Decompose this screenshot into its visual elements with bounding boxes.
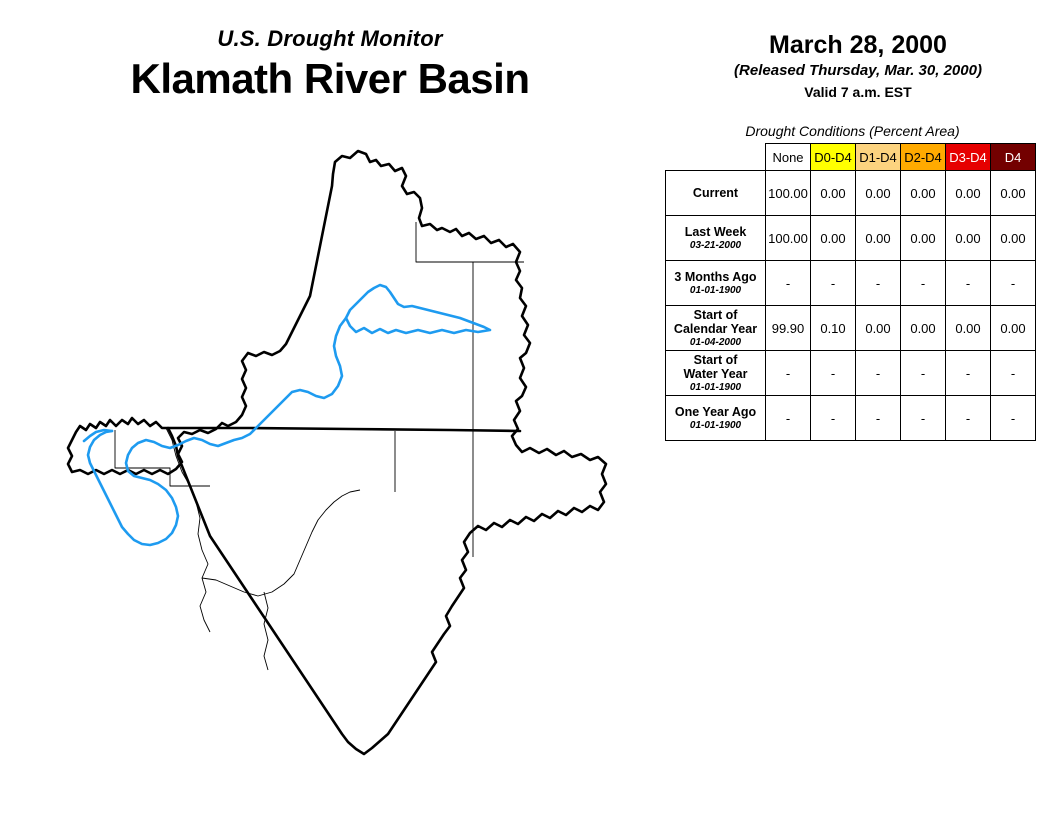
- cell-r5-c3: -: [901, 396, 946, 441]
- valid-time: Valid 7 a.m. EST: [660, 83, 1056, 102]
- cell-r2-c0: -: [766, 261, 811, 306]
- row-label-date: 01-01-1900: [666, 285, 765, 297]
- cell-r2-c5: -: [991, 261, 1036, 306]
- cell-r3-c1: 0.10: [811, 306, 856, 351]
- row-label-start-of-water-year: Start ofWater Year01-01-1900: [666, 351, 766, 396]
- map-panel: U.S. Drought Monitor Klamath River Basin: [0, 0, 660, 816]
- cell-r2-c1: -: [811, 261, 856, 306]
- cell-r3-c5: 0.00: [991, 306, 1036, 351]
- report-date: March 28, 2000: [660, 30, 1056, 60]
- cell-r4-c1: -: [811, 351, 856, 396]
- cell-r0-c2: 0.00: [856, 171, 901, 216]
- cell-r4-c0: -: [766, 351, 811, 396]
- cell-r0-c3: 0.00: [901, 171, 946, 216]
- map-svg: [50, 140, 630, 780]
- table-row: One Year Ago01-01-1900------: [666, 396, 1036, 441]
- cell-r5-c5: -: [991, 396, 1036, 441]
- column-header-d0-d4: D0-D4: [811, 144, 856, 171]
- table-header: NoneD0-D4D1-D4D2-D4D3-D4D4: [666, 144, 1036, 171]
- cell-r5-c4: -: [946, 396, 991, 441]
- cell-r4-c3: -: [901, 351, 946, 396]
- cell-r1-c5: 0.00: [991, 216, 1036, 261]
- cell-r0-c1: 0.00: [811, 171, 856, 216]
- cell-r1-c4: 0.00: [946, 216, 991, 261]
- table-caption: Drought Conditions (Percent Area): [660, 123, 1045, 139]
- cell-r4-c2: -: [856, 351, 901, 396]
- cell-r0-c0: 100.00: [766, 171, 811, 216]
- info-panel: March 28, 2000 (Released Thursday, Mar. …: [660, 0, 1056, 816]
- table-row: Current100.000.000.000.000.000.00: [666, 171, 1036, 216]
- page-title: Klamath River Basin: [0, 54, 660, 104]
- row-label-date: 01-01-1900: [666, 382, 765, 394]
- title-block: U.S. Drought Monitor Klamath River Basin: [0, 26, 660, 104]
- table-row: 3 Months Ago01-01-1900------: [666, 261, 1036, 306]
- cell-r5-c2: -: [856, 396, 901, 441]
- cell-r1-c0: 100.00: [766, 216, 811, 261]
- row-label-start-of-calendar-year: Start ofCalendar Year01-04-2000: [666, 306, 766, 351]
- cell-r3-c0: 99.90: [766, 306, 811, 351]
- cell-r0-c5: 0.00: [991, 171, 1036, 216]
- table-row: Start ofCalendar Year01-04-200099.900.10…: [666, 306, 1036, 351]
- column-header-d1-d4: D1-D4: [856, 144, 901, 171]
- column-header-d3-d4: D3-D4: [946, 144, 991, 171]
- cell-r2-c2: -: [856, 261, 901, 306]
- column-header-d4: D4: [991, 144, 1036, 171]
- cell-r3-c4: 0.00: [946, 306, 991, 351]
- release-date: (Released Thursday, Mar. 30, 2000): [660, 61, 1056, 81]
- table-row: Start ofWater Year01-01-1900------: [666, 351, 1036, 396]
- cell-r0-c4: 0.00: [946, 171, 991, 216]
- cell-r3-c3: 0.00: [901, 306, 946, 351]
- table-row: Last Week03-21-2000100.000.000.000.000.0…: [666, 216, 1036, 261]
- row-label-current: Current: [666, 171, 766, 216]
- row-label-date: 01-01-1900: [666, 420, 765, 432]
- row-label-date: 01-04-2000: [666, 337, 765, 349]
- cell-r3-c2: 0.00: [856, 306, 901, 351]
- row-label-date: 03-21-2000: [666, 240, 765, 252]
- row-label-3-months-ago: 3 Months Ago01-01-1900: [666, 261, 766, 306]
- cell-r1-c1: 0.00: [811, 216, 856, 261]
- cell-r5-c1: -: [811, 396, 856, 441]
- cell-r1-c3: 0.00: [901, 216, 946, 261]
- cell-r5-c0: -: [766, 396, 811, 441]
- basin-outline: [68, 151, 606, 754]
- cell-r2-c4: -: [946, 261, 991, 306]
- cell-r1-c2: 0.00: [856, 216, 901, 261]
- row-label-one-year-ago: One Year Ago01-01-1900: [666, 396, 766, 441]
- date-block: March 28, 2000 (Released Thursday, Mar. …: [660, 30, 1056, 102]
- row-label-last-week: Last Week03-21-2000: [666, 216, 766, 261]
- klamath-river-basin-map: [50, 140, 630, 780]
- column-header-none: None: [766, 144, 811, 171]
- drought-monitor-supertitle: U.S. Drought Monitor: [0, 26, 660, 52]
- cell-r2-c3: -: [901, 261, 946, 306]
- cell-r4-c4: -: [946, 351, 991, 396]
- table-corner-cell: [666, 144, 766, 171]
- table-body: Current100.000.000.000.000.000.00Last We…: [666, 171, 1036, 441]
- cell-r4-c5: -: [991, 351, 1036, 396]
- column-header-d2-d4: D2-D4: [901, 144, 946, 171]
- table-header-row: NoneD0-D4D1-D4D2-D4D3-D4D4: [666, 144, 1036, 171]
- drought-conditions-table: NoneD0-D4D1-D4D2-D4D3-D4D4 Current100.00…: [665, 143, 1036, 441]
